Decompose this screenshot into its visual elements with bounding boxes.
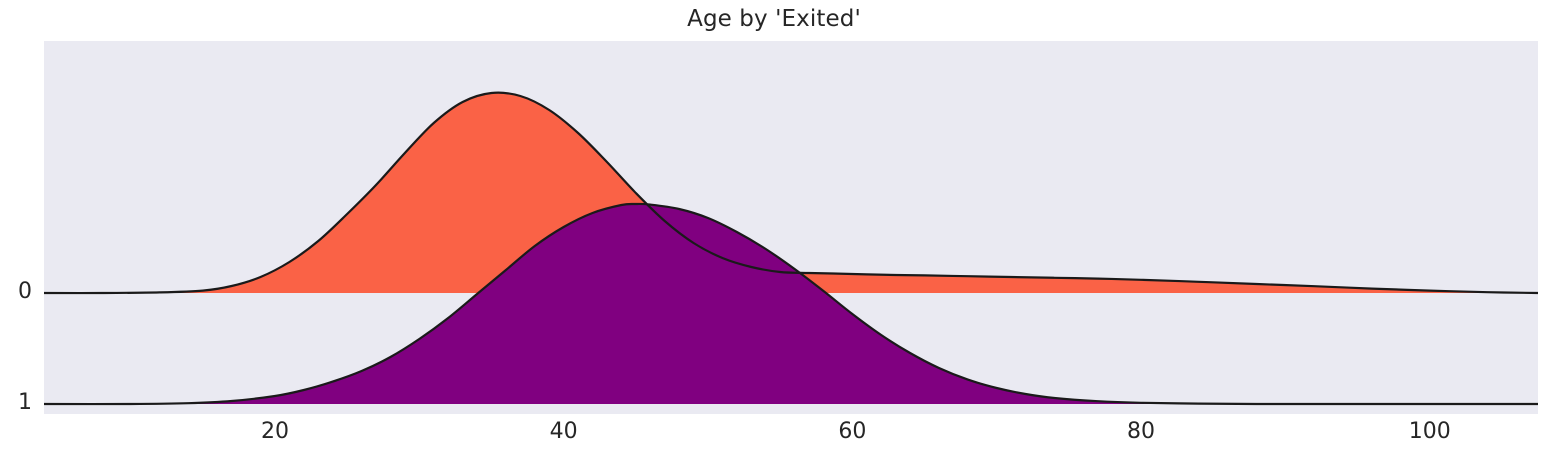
y-tick-label-1: 1 xyxy=(18,392,32,414)
density-outline-exited-0 xyxy=(44,93,1538,293)
density-area-exited-1 xyxy=(44,204,1538,404)
x-tick-label-40: 40 xyxy=(550,421,578,443)
x-tick-label-20: 20 xyxy=(261,421,289,443)
y-tick-label-0: 0 xyxy=(18,281,32,303)
x-tick-label-60: 60 xyxy=(838,421,866,443)
x-tick-label-80: 80 xyxy=(1127,421,1155,443)
plot-area xyxy=(44,41,1538,414)
chart-title: Age by 'Exited' xyxy=(0,6,1548,32)
density-area-exited-0 xyxy=(44,93,1538,293)
x-tick-label-100: 100 xyxy=(1409,421,1451,443)
chart-figure: Age by 'Exited' 0 1 20 40 60 80 100 xyxy=(0,0,1548,468)
ridgeline-density-plot xyxy=(44,41,1538,414)
